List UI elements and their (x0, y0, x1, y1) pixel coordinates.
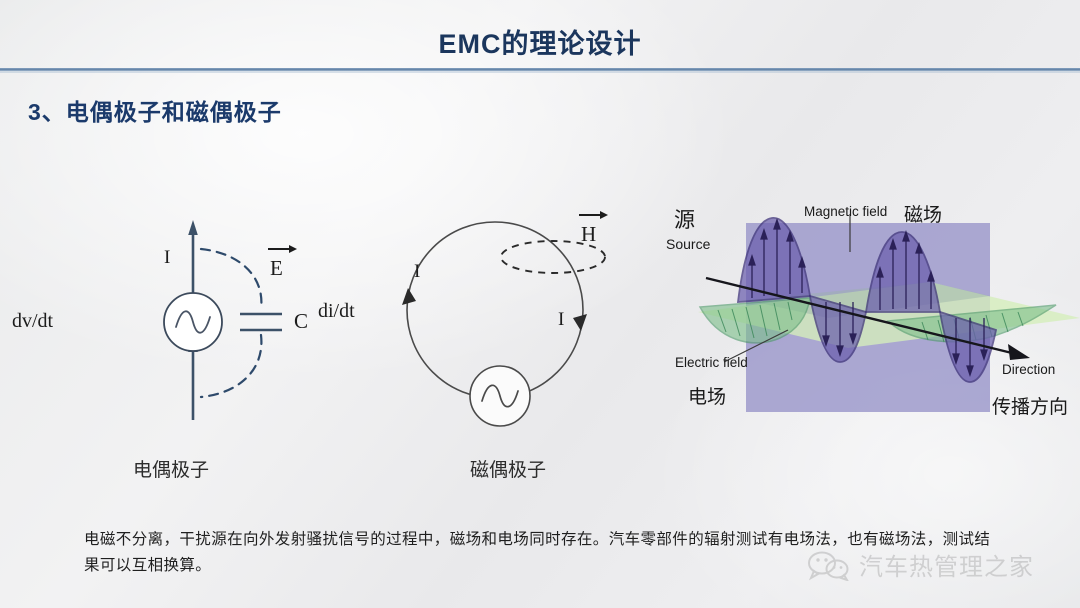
electric-dipole-figure: I dv/dt E C (60, 215, 340, 445)
capacitor-label: C (294, 309, 308, 334)
em-wave-figure: 源 Source Magnetic field 磁场 Electric fiel… (660, 190, 1080, 430)
page-title: EMC的理论设计 (0, 22, 1080, 61)
vector-arrow-icon (576, 206, 610, 222)
em-magnetic-label-en: Magnetic field (804, 204, 887, 219)
em-magnetic-label-cn: 磁场 (904, 200, 942, 227)
magnetic-dipole-caption: 磁偶极子 (470, 455, 546, 482)
em-direction-label-en: Direction (1002, 362, 1055, 377)
magnetic-dipole-current-label-left: I (414, 261, 420, 283)
em-source-label-en: Source (666, 236, 710, 252)
electric-dipole-current-label: I (164, 247, 170, 269)
header-divider-shadow (0, 71, 1080, 73)
electric-dipole-caption: 电偶极子 (133, 455, 209, 482)
h-field-letter: H (576, 222, 610, 247)
em-electric-label-en: Electric field (675, 355, 748, 370)
magnetic-dipole-current-label-right: I (558, 309, 564, 331)
slide-canvas: EMC的理论设计 3、电偶极子和磁偶极子 I dv/dt (0, 0, 1080, 608)
section-subtitle: 3、电偶极子和磁偶极子 (28, 93, 282, 127)
h-field-vector-label: H (576, 206, 610, 247)
magnetic-dipole-didt-label: di/dt (318, 300, 355, 323)
electric-dipole-dvdt-label: dv/dt (12, 310, 53, 333)
vector-arrow-icon (265, 240, 299, 256)
magnetic-dipole-figure: di/dt I I H (340, 200, 640, 440)
em-source-label-cn: 源 (674, 204, 695, 234)
e-field-vector-label: E (264, 240, 299, 281)
e-field-letter: E (264, 256, 299, 281)
em-electric-label-cn: 电场 (688, 382, 726, 409)
body-paragraph: 电磁不分离，干扰源在向外发射骚扰信号的过程中，磁场和电场同时存在。汽车零部件的辐… (84, 527, 994, 579)
em-direction-label-cn: 传播方向 (992, 392, 1068, 419)
